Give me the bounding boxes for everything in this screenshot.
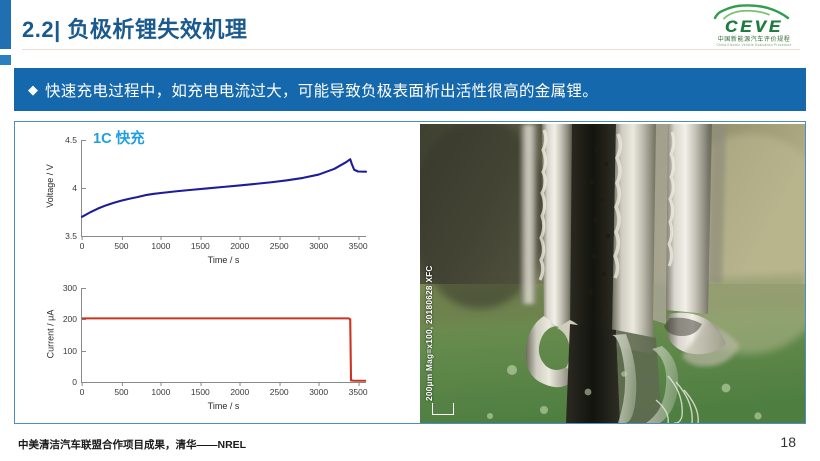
diamond-bullet-icon: ◆	[28, 83, 38, 96]
xtick: 3000	[309, 382, 328, 397]
xtick: 2000	[230, 236, 249, 251]
chart-voltage-plot-area: 4.5 4 3.5 0 500 1000 1500 2000 2500 3000…	[81, 140, 366, 237]
ceve-logo: CEVE 中国新能源汽车评价规程 China Electric Vehicle …	[698, 4, 810, 48]
ytick: 100	[63, 346, 82, 356]
charts-column: 1C 快充 Voltage / V 4.5 4 3.5 0 500 1000 1…	[15, 122, 415, 423]
xtick: 2000	[230, 382, 249, 397]
content-panel: 1C 快充 Voltage / V 4.5 4 3.5 0 500 1000 1…	[14, 121, 806, 424]
banner-text: 快速充电过程中，如充电电流过大，可能导致负极表面析出活性很高的金属锂。	[45, 79, 598, 101]
xtick: 500	[114, 382, 128, 397]
xtick: 1000	[151, 236, 170, 251]
xtick: 0	[80, 236, 85, 251]
xtick: 2500	[270, 236, 289, 251]
logo-wordmark: CEVE	[725, 18, 783, 35]
chart-voltage-series	[82, 140, 366, 236]
logo-english-subtitle: China Electric Vehicle Evaluation Proced…	[716, 44, 791, 48]
chart-current-plot-area: 300 200 100 0 0 500 1000 1500 2000 2500 …	[81, 288, 366, 383]
chart-current-ylabel: Current / μA	[45, 310, 55, 359]
chart-current-series	[82, 288, 366, 382]
header-divider	[22, 49, 800, 50]
xtick: 500	[114, 236, 128, 251]
slide-header: 2.2| 负极析锂失效机理	[22, 8, 682, 48]
chart-voltage-ylabel: Voltage / V	[45, 164, 55, 208]
page-title: 2.2| 负极析锂失效机理	[22, 12, 247, 44]
footer-source-note: 中美清洁汽车联盟合作项目成果，清华——NREL	[18, 437, 246, 452]
chart-voltage-xlabel: Time / s	[81, 255, 366, 265]
page-number: 18	[780, 434, 796, 450]
lithium-plating-micrograph: 200μm Mag=x100, 20180628 XFC	[420, 124, 805, 423]
ytick: 300	[63, 283, 82, 293]
chart-current-xlabel: Time / s	[81, 401, 366, 411]
xtick: 1000	[151, 382, 170, 397]
key-message-banner: ◆ 快速充电过程中，如充电电流过大，可能导致负极表面析出活性很高的金属锂。	[14, 68, 806, 111]
ytick: 200	[63, 314, 82, 324]
xtick: 0	[80, 382, 85, 397]
micrograph-scale-label: 200μm Mag=x100, 20180628 XFC	[425, 265, 434, 401]
ytick: 4.5	[65, 135, 82, 145]
xtick: 3000	[309, 236, 328, 251]
left-accent-bar-top	[0, 0, 11, 49]
micrograph-image	[420, 124, 805, 423]
xtick: 1500	[191, 382, 210, 397]
xtick: 1500	[191, 236, 210, 251]
xtick: 3500	[349, 382, 368, 397]
xtick: 2500	[270, 382, 289, 397]
chart-voltage-vs-time: 1C 快充 Voltage / V 4.5 4 3.5 0 500 1000 1…	[15, 124, 415, 274]
ytick: 4	[72, 183, 82, 193]
chart-current-vs-time: Current / μA 300 200 100 0 0 500 1000 15…	[15, 274, 415, 424]
left-accent-bar-bottom	[0, 55, 11, 65]
xtick: 3500	[349, 236, 368, 251]
micrograph-scale-bar	[432, 403, 454, 415]
